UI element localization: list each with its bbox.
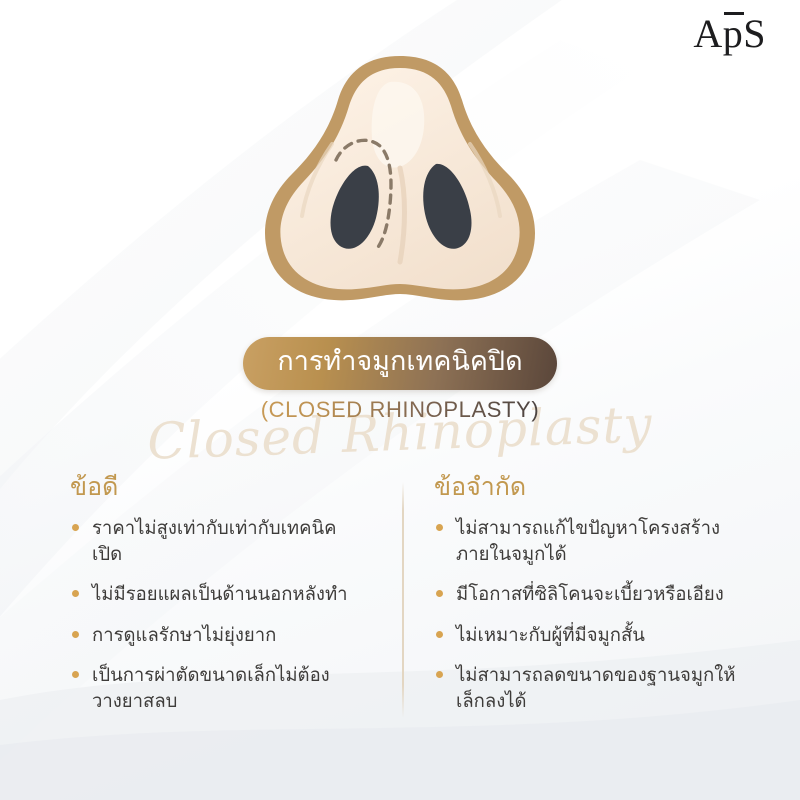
title-thai: การทำจมูกเทคนิคปิด (277, 346, 523, 377)
content-columns: ข้อดี ราคาไม่สูงเท่ากับเท่ากับเทคนิคเปิด… (0, 472, 800, 762)
list-advantages: ราคาไม่สูงเท่ากับเท่ากับเทคนิคเปิด ไม่มี… (70, 515, 366, 713)
title-english: (CLOSED RHINOPLASTY) (261, 397, 540, 423)
column-advantages: ข้อดี ราคาไม่สูงเท่ากับเท่ากับเทคนิคเปิด… (0, 472, 400, 762)
brand-logo: ApS (693, 14, 766, 54)
list-item: ไม่สามารถลดขนาดของฐานจมูกให้เล็กลงได้ (434, 662, 764, 713)
title-banner: การทำจมูกเทคนิคปิด (243, 337, 557, 390)
list-item: เป็นการผ่าตัดขนาดเล็กไม่ต้องวางยาสลบ (70, 662, 366, 713)
logo-letter-p-macron: p (723, 14, 744, 54)
logo-letter-s: S (743, 11, 766, 56)
list-item: ราคาไม่สูงเท่ากับเท่ากับเทคนิคเปิด (70, 515, 366, 566)
infographic-canvas: ApS การทำจมูกเทคนิคปิด (0, 0, 800, 800)
list-item: ไม่มีรอยแผลเป็นด้านนอกหลังทำ (70, 581, 366, 607)
logo-letter-a: A (693, 11, 722, 56)
subtitle-group: Closed Rhinoplasty (CLOSED RHINOPLASTY) (0, 392, 800, 464)
heading-limitations: ข้อจำกัด (434, 472, 764, 503)
heading-advantages: ข้อดี (70, 472, 366, 503)
list-item: การดูแลรักษาไม่ยุ่งยาก (70, 622, 366, 648)
nose-illustration (240, 48, 560, 328)
column-limitations: ข้อจำกัด ไม่สามารถแก้ไขปัญหาโครงสร้างภาย… (400, 472, 800, 762)
list-item: ไม่สามารถแก้ไขปัญหาโครงสร้างภายในจมูกได้ (434, 515, 764, 566)
list-item: ไม่เหมาะกับผู้ที่มีจมูกสั้น (434, 622, 764, 648)
list-limitations: ไม่สามารถแก้ไขปัญหาโครงสร้างภายในจมูกได้… (434, 515, 764, 713)
list-item: มีโอกาสที่ซิลิโคนจะเบี้ยวหรือเอียง (434, 581, 764, 607)
